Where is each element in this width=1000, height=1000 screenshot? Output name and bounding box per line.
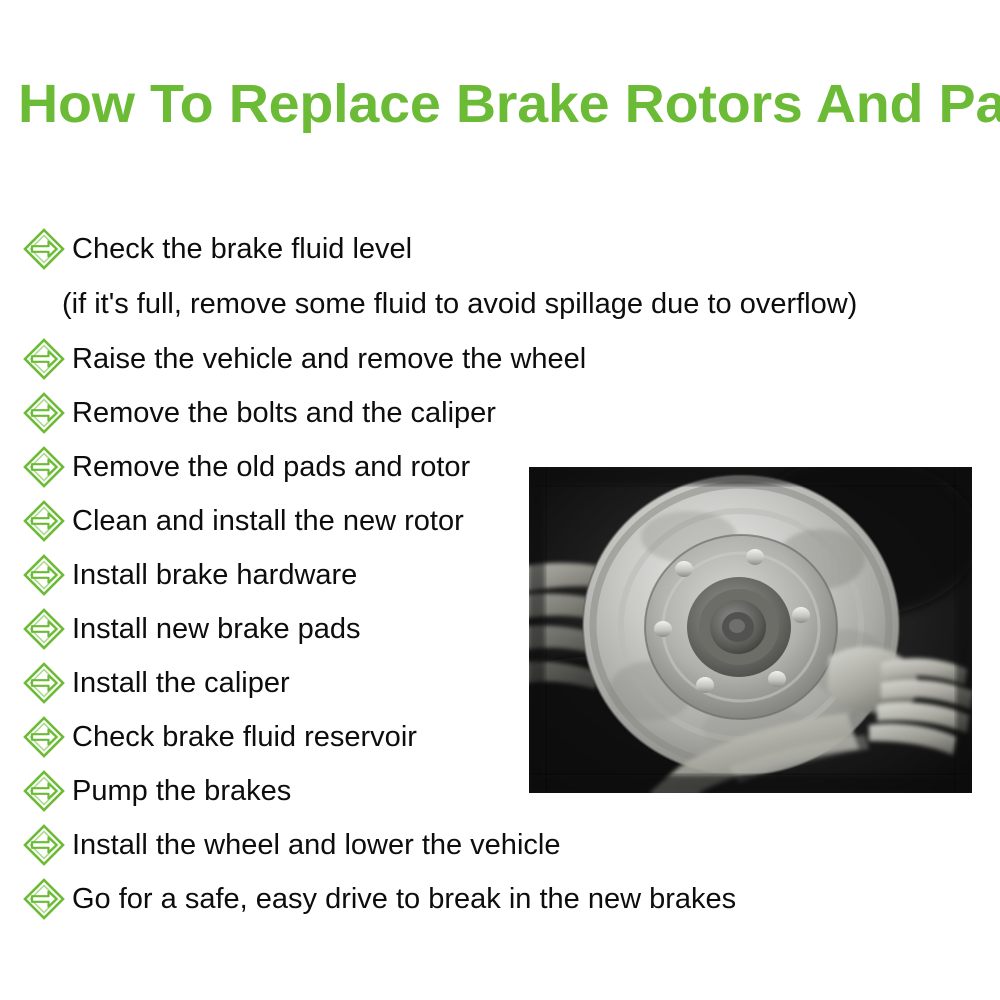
step-label: Go for a safe, easy drive to break in th… — [72, 882, 736, 916]
diamond-arrow-right-icon — [22, 499, 66, 543]
diamond-arrow-right-icon — [22, 445, 66, 489]
list-item: Install the wheel and lower the vehicle — [0, 818, 1000, 872]
step-label: Install the wheel and lower the vehicle — [72, 828, 560, 862]
list-item: Install new brake pads — [0, 602, 1000, 656]
diamond-arrow-right-icon — [22, 607, 66, 651]
diamond-arrow-right-icon — [22, 227, 66, 271]
list-item-note: (if it's full, remove some fluid to avoi… — [0, 276, 1000, 332]
list-item: Install the caliper — [0, 656, 1000, 710]
list-item: Remove the bolts and the caliper — [0, 386, 1000, 440]
list-item: Go for a safe, easy drive to break in th… — [0, 872, 1000, 926]
diamond-arrow-right-icon — [22, 823, 66, 867]
list-item: Raise the vehicle and remove the wheel — [0, 332, 1000, 386]
step-label: Check brake fluid reservoir — [72, 720, 417, 754]
step-label: Install brake hardware — [72, 558, 357, 592]
list-item: Remove the old pads and rotor — [0, 440, 1000, 494]
step-label: Remove the bolts and the caliper — [72, 396, 496, 430]
step-label: Clean and install the new rotor — [72, 504, 464, 538]
steps-list: Check the brake fluid level (if it's ful… — [0, 222, 1000, 926]
diamond-arrow-right-icon — [22, 337, 66, 381]
list-item: Check the brake fluid level — [0, 222, 1000, 276]
list-item: Check brake fluid reservoir — [0, 710, 1000, 764]
step-label: Check the brake fluid level — [72, 232, 412, 266]
step-label: Install new brake pads — [72, 612, 361, 646]
list-item: Pump the brakes — [0, 764, 1000, 818]
diamond-arrow-right-icon — [22, 769, 66, 813]
step-label: Raise the vehicle and remove the wheel — [72, 342, 586, 376]
step-label: Install the caliper — [72, 666, 290, 700]
diamond-arrow-right-icon — [22, 391, 66, 435]
step-note: (if it's full, remove some fluid to avoi… — [62, 287, 857, 321]
step-label: Remove the old pads and rotor — [72, 450, 470, 484]
list-item: Clean and install the new rotor — [0, 494, 1000, 548]
diamond-arrow-right-icon — [22, 877, 66, 921]
list-item: Install brake hardware — [0, 548, 1000, 602]
page-title: How To Replace Brake Rotors And Pads — [18, 72, 1000, 136]
diamond-arrow-right-icon — [22, 661, 66, 705]
infographic-page: How To Replace Brake Rotors And Pads — [0, 0, 1000, 1000]
diamond-arrow-right-icon — [22, 553, 66, 597]
step-label: Pump the brakes — [72, 774, 291, 808]
diamond-arrow-right-icon — [22, 715, 66, 759]
